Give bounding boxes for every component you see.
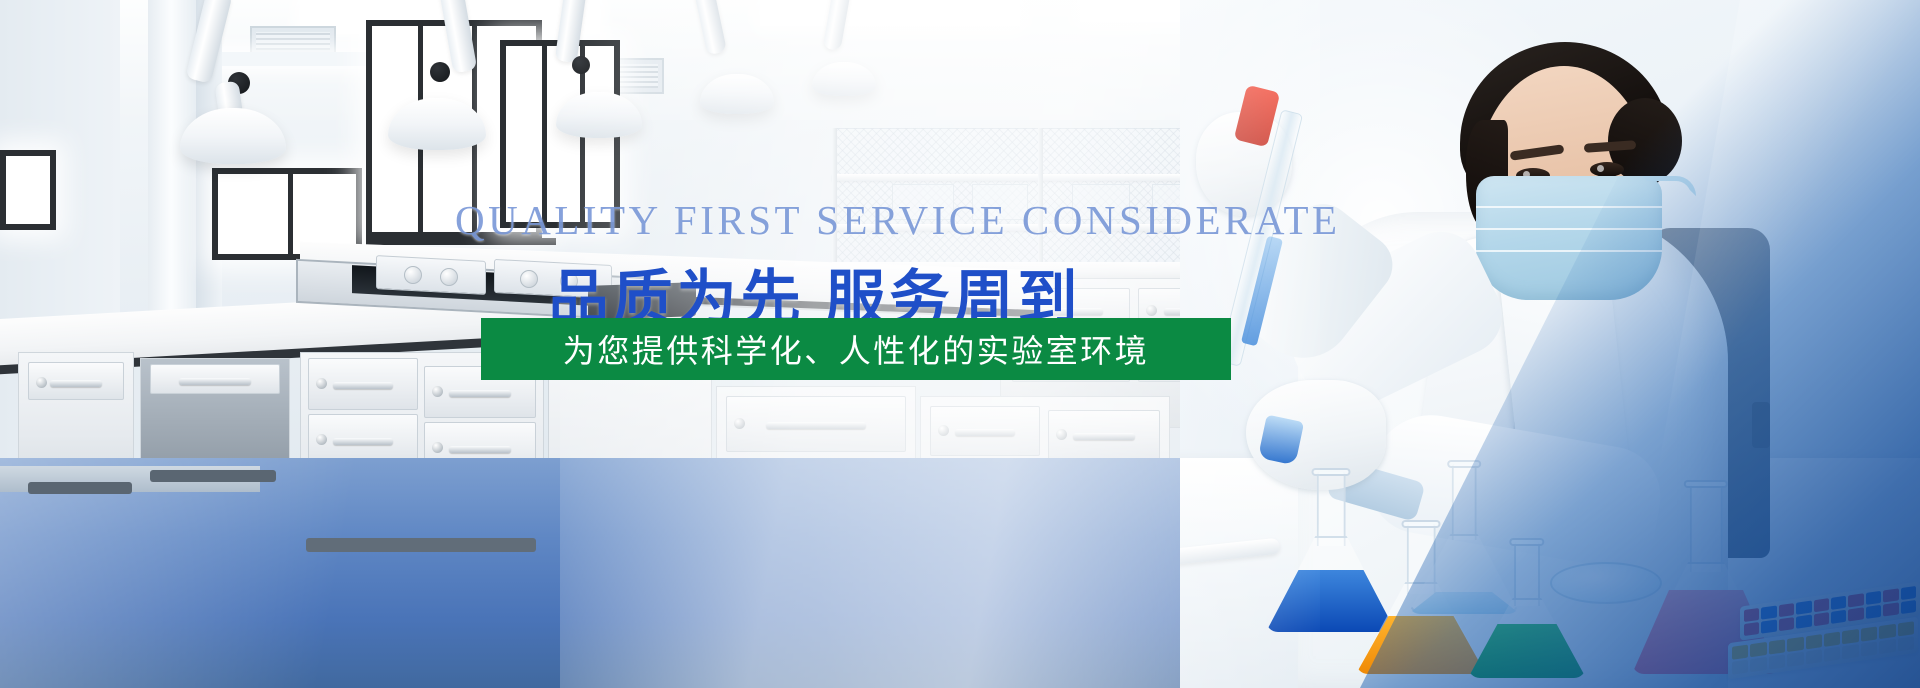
scientist-pipetting-photo bbox=[1180, 0, 1920, 688]
service-knob bbox=[440, 268, 458, 286]
bench-service-unit bbox=[376, 255, 486, 295]
drawer bbox=[1012, 338, 1130, 382]
floor-reflection bbox=[0, 458, 1240, 688]
drawer bbox=[726, 396, 906, 452]
service-knob bbox=[404, 266, 422, 284]
cabinet-base bbox=[306, 538, 536, 552]
service-knob bbox=[520, 270, 538, 288]
drawer bbox=[424, 366, 536, 418]
bench-equipment-box bbox=[588, 282, 696, 320]
fume-arm-joint bbox=[572, 56, 590, 74]
ceiling-light-panel bbox=[760, 0, 1020, 26]
cabinet-base bbox=[28, 482, 132, 494]
hero-banner: QUALITY FIRST SERVICE CONSIDERATE 品质为先 服… bbox=[0, 0, 1920, 688]
eye-right bbox=[1590, 162, 1624, 177]
fume-arm-joint bbox=[430, 62, 450, 82]
window-sill bbox=[366, 238, 556, 245]
drawer bbox=[930, 406, 1040, 456]
drawer bbox=[1048, 410, 1160, 460]
drawer bbox=[28, 362, 124, 400]
drawer bbox=[308, 358, 418, 410]
cabinet-base bbox=[150, 470, 276, 482]
service-knob bbox=[560, 272, 578, 290]
drawer bbox=[150, 364, 280, 394]
window bbox=[0, 150, 56, 230]
